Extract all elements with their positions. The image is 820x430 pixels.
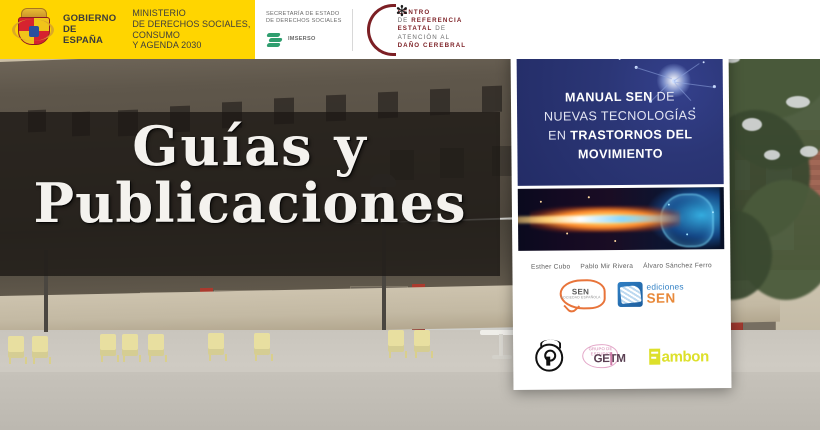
book-cover[interactable]: MANUAL SEN DE NUEVAS TECNOLOGÍAS EN TRAS… — [511, 46, 732, 390]
page-title-line-2: Publicaciones — [0, 175, 500, 232]
ediciones-sen-text: ediciones SEN — [646, 282, 683, 304]
book-title-rest-3: EN — [548, 129, 570, 143]
book-title-line-1: MANUAL SEN DE — [527, 87, 713, 108]
ceadac-logo: ✻ CENTRO DE REFERENCIA ESTATAL DE ATENCI… — [363, 4, 467, 56]
ministerio-line-1: MINISTERIO — [132, 8, 255, 19]
ceadac-estatal: ESTATAL — [398, 25, 433, 32]
facade-window — [482, 86, 502, 113]
book-cover-top-panel: MANUAL SEN DE NUEVAS TECNOLOGÍAS EN TRAS… — [517, 51, 724, 186]
courtyard-chair — [254, 333, 270, 355]
ministerio-line-2: DE DERECHOS SOCIALES, CONSUMO — [132, 19, 255, 41]
courtyard-chair — [388, 330, 404, 352]
book-title-rest-1: DE — [653, 90, 675, 104]
imserso-mark-icon — [266, 31, 283, 48]
artwork-spark — [614, 240, 616, 242]
courtyard-chair — [32, 336, 48, 358]
book-cover-artwork — [518, 187, 725, 251]
book-cover-bottom-panel: Esther CuboPablo Mir RiveraÁlvaro Sánche… — [518, 250, 725, 384]
gobierno-line-1: GOBIERNO — [63, 13, 116, 24]
courtyard-chair — [208, 333, 224, 355]
getm-bar — [611, 352, 613, 365]
courtyard-chair — [100, 334, 116, 356]
ceadac-arc-icon: ✻ — [367, 4, 396, 56]
courtyard-chair — [148, 334, 164, 356]
book-title-line-2: NUEVAS TECNOLOGÍAS — [527, 106, 713, 127]
page-root: GOBIERNO DE ESPAÑA MINISTERIO DE DERECHO… — [0, 0, 820, 430]
secretaria-block: SECRETARÍA DE ESTADO DE DERECHOS SOCIALE… — [255, 11, 342, 48]
page-title-line-1: Guías y — [0, 118, 500, 175]
foliage-gap — [786, 96, 810, 108]
book-title-line-4: MOVIMIENTO — [527, 145, 713, 166]
book-title-bold-1: MANUAL SEN — [565, 90, 653, 105]
institution-circle-logo — [536, 344, 564, 372]
page-title: Guías y Publicaciones — [0, 118, 500, 231]
book-authors: Esther CuboPablo Mir RiveraÁlvaro Sánche… — [518, 262, 724, 271]
institutional-logo-bar: GOBIERNO DE ESPAÑA MINISTERIO DE DERECHO… — [0, 0, 820, 59]
pillars-of-hercules — [12, 19, 54, 41]
getm-logo: GRUPO DE ESTUDIO GETM — [583, 344, 631, 370]
foliage-gap — [764, 150, 780, 160]
foliage-gap — [742, 118, 762, 131]
gobierno-de-espana-text: GOBIERNO DE ESPAÑA — [63, 13, 116, 47]
gobierno-ministerio-block: GOBIERNO DE ESPAÑA MINISTERIO DE DERECHO… — [0, 0, 255, 59]
courtyard-chair — [414, 330, 430, 352]
book-title-bold-3: TRASTORNOS DEL — [570, 128, 692, 143]
artwork-spark — [588, 196, 590, 198]
courtyard-chair — [8, 336, 24, 358]
ceadac-splash-icon: ✻ — [396, 5, 409, 18]
author-name: Pablo Mir Rivera — [580, 263, 633, 270]
artwork-spark — [540, 201, 542, 203]
ceadac-line-5: DAÑO CEREBRAL — [398, 42, 467, 50]
secretaria-line-1: SECRETARÍA DE ESTADO — [266, 11, 342, 18]
secretaria-line-2: DE DERECHOS SOCIALES — [266, 18, 342, 25]
publisher-logos: SEN SOCIEDAD ESPAÑOLA ediciones SEN — [519, 278, 725, 310]
ceadac-line-4: ATENCIÓN AL — [398, 34, 467, 42]
ceadac-referencia: REFERENCIA — [411, 17, 462, 24]
sen-label-main: SEN — [647, 291, 684, 305]
logo-divider — [352, 9, 353, 51]
agency-logo-block: SECRETARÍA DE ESTADO DE DERECHOS SOCIALE… — [255, 0, 820, 59]
artwork-spark — [668, 204, 670, 206]
ministerio-text: MINISTERIO DE DERECHOS SOCIALES, CONSUMO… — [132, 8, 255, 51]
sponsor-logos: GRUPO DE ESTUDIO GETM ambon — [519, 342, 725, 372]
ceadac-dano-cerebral: DAÑO CEREBRAL — [398, 42, 467, 49]
imserso-logo: IMSERSO — [266, 31, 342, 48]
artwork-spark — [566, 232, 568, 234]
ediciones-sen-logo: ediciones SEN — [617, 281, 683, 307]
ministerio-line-3: Y AGENDA 2030 — [132, 40, 255, 51]
zambon-label: ambon — [662, 348, 709, 365]
spanish-coat-of-arms-icon — [12, 8, 54, 52]
author-name: Álvaro Sánchez Ferro — [643, 262, 712, 270]
courtyard-chair — [122, 334, 138, 356]
network-node — [703, 61, 705, 63]
author-name: Esther Cubo — [531, 263, 570, 270]
foliage-gap — [800, 146, 818, 157]
sen-sublabel: SOCIEDAD ESPAÑOLA — [560, 295, 602, 299]
zambon-logo: ambon — [650, 348, 709, 366]
book-title: MANUAL SEN DE NUEVAS TECNOLOGÍAS EN TRAS… — [527, 87, 714, 165]
zambon-mark-icon — [650, 349, 661, 365]
ceadac-de2: DE — [435, 25, 446, 32]
gobierno-line-2: DE ESPAÑA — [63, 24, 116, 46]
ceadac-line-3: ESTATAL DE — [398, 25, 467, 33]
artwork-spark — [686, 233, 688, 235]
sen-brain-logo: SEN SOCIEDAD ESPAÑOLA — [559, 279, 601, 309]
book-pages-icon — [617, 281, 642, 306]
book-title-line-3: EN TRASTORNOS DEL — [527, 125, 713, 146]
imserso-label: IMSERSO — [288, 36, 316, 43]
